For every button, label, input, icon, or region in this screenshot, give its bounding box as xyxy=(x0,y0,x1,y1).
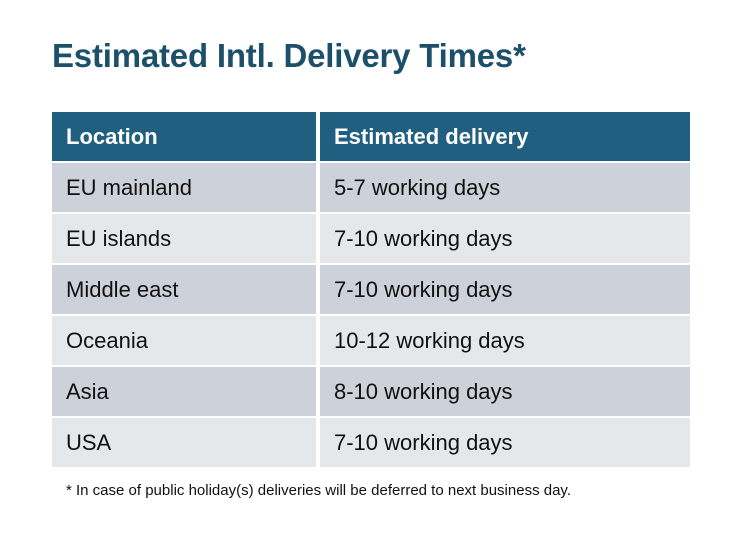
table-row: EU islands 7-10 working days xyxy=(52,214,690,263)
cell-estimated-delivery: 7-10 working days xyxy=(320,418,690,467)
cell-location: Asia xyxy=(52,367,316,416)
cell-estimated-delivery: 7-10 working days xyxy=(320,265,690,314)
cell-estimated-delivery: 5-7 working days xyxy=(320,163,690,212)
table-row: Oceania 10-12 working days xyxy=(52,316,690,365)
table-row: EU mainland 5-7 working days xyxy=(52,163,690,212)
cell-location: Oceania xyxy=(52,316,316,365)
cell-location: USA xyxy=(52,418,316,467)
cell-location: EU mainland xyxy=(52,163,316,212)
footnote-text: * In case of public holiday(s) deliverie… xyxy=(66,481,571,501)
table-row: USA 7-10 working days xyxy=(52,418,690,467)
cell-location: Middle east xyxy=(52,265,316,314)
table-row: Middle east 7-10 working days xyxy=(52,265,690,314)
page-title: Estimated Intl. Delivery Times* xyxy=(52,36,526,76)
delivery-times-table: Location Estimated delivery EU mainland … xyxy=(52,112,690,467)
column-header-estimated-delivery: Estimated delivery xyxy=(320,112,690,161)
column-header-location: Location xyxy=(52,112,316,161)
delivery-times-page: Estimated Intl. Delivery Times* Location… xyxy=(0,0,745,536)
table-header-row: Location Estimated delivery xyxy=(52,112,690,161)
cell-location: EU islands xyxy=(52,214,316,263)
table-row: Asia 8-10 working days xyxy=(52,367,690,416)
cell-estimated-delivery: 8-10 working days xyxy=(320,367,690,416)
cell-estimated-delivery: 7-10 working days xyxy=(320,214,690,263)
cell-estimated-delivery: 10-12 working days xyxy=(320,316,690,365)
